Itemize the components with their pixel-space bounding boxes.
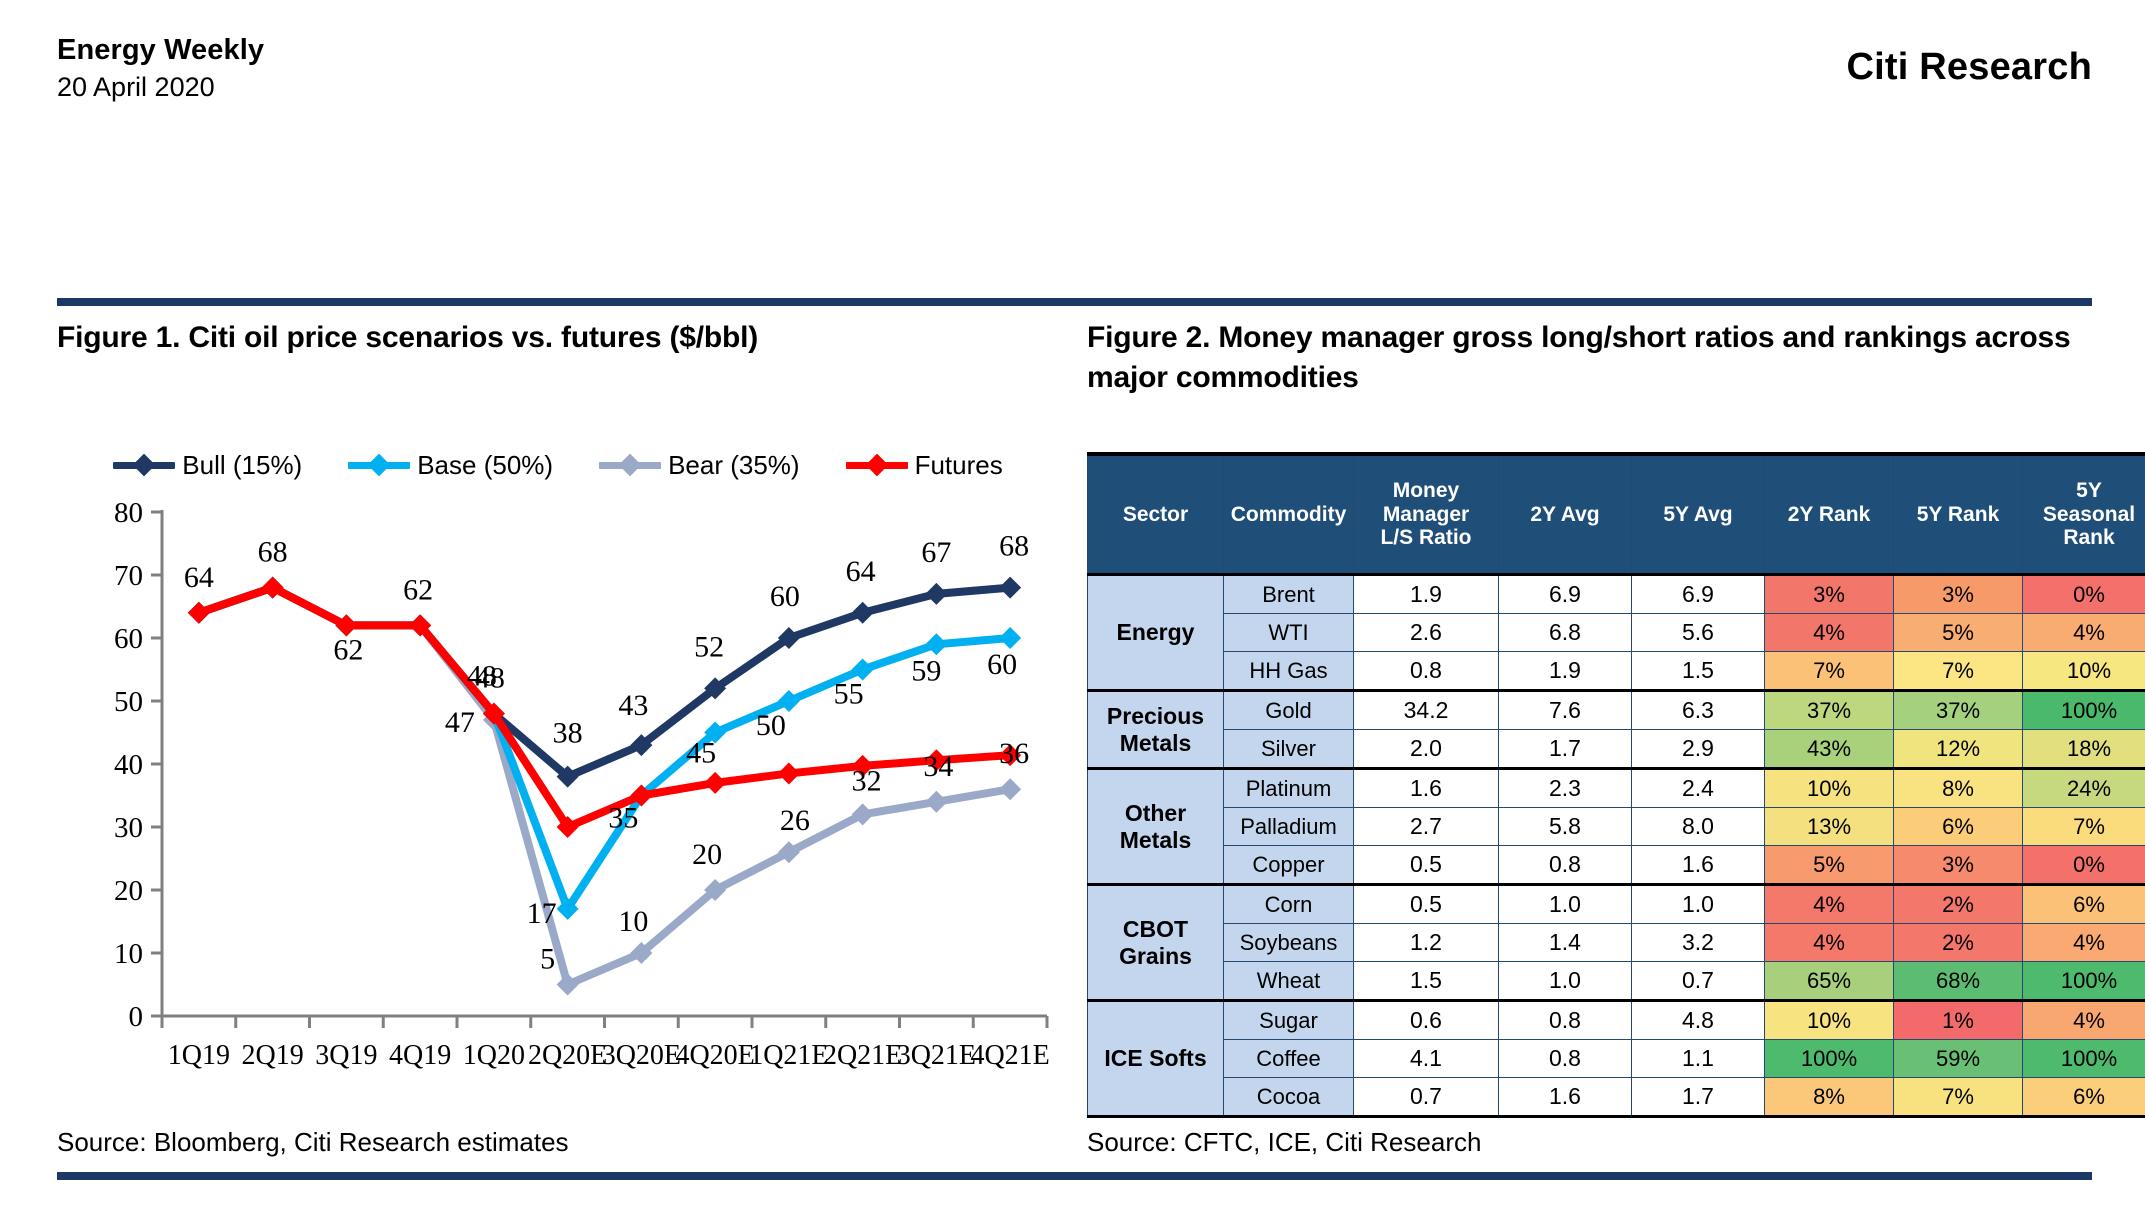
table-cell-5y-rank: 5% [1894, 614, 2023, 652]
table-row[interactable]: PreciousMetalsGold34.27.66.337%37%100% [1088, 691, 2145, 730]
table-cell-5y-avg: 6.3 [1632, 691, 1765, 730]
table-cell-5y-rank: 7% [1894, 652, 2023, 691]
x-axis-tick-label: 2Q21E [823, 1040, 902, 1071]
data-label: 36 [999, 737, 1029, 770]
table-cell-commodity: Gold [1224, 691, 1354, 730]
table-cell-2y-avg: 0.8 [1499, 1001, 1632, 1040]
table-cell-5y-seasonal-rank: 100% [2023, 1040, 2145, 1078]
table-cell-5y-avg: 1.0 [1632, 885, 1765, 924]
table-col-header-line: Manager [1356, 503, 1496, 527]
table-row[interactable]: Palladium2.75.88.013%6%7% [1088, 808, 2145, 846]
table-row[interactable]: HH Gas0.81.91.57%7%10% [1088, 652, 2145, 691]
table-cell-commodity: Soybeans [1224, 924, 1354, 962]
table-col-header-5y-avg[interactable]: 5Y Avg [1632, 454, 1765, 575]
table-cell-mm-ls-ratio: 0.5 [1354, 846, 1499, 885]
x-axis-tick-label: 3Q20E [602, 1040, 681, 1071]
x-axis-tick-label: 3Q21E [897, 1040, 976, 1071]
table-header-row: SectorCommodityMoneyManagerL/S Ratio2Y A… [1088, 454, 2145, 575]
table-row[interactable]: EnergyBrent1.96.96.93%3%0% [1088, 575, 2145, 614]
series-futures [188, 577, 1021, 838]
footer-divider-rule [57, 1172, 2092, 1180]
x-axis-tick-label: 4Q20E [675, 1040, 754, 1071]
table-cell-mm-ls-ratio: 0.8 [1354, 652, 1499, 691]
table-cell-2y-rank: 8% [1765, 1078, 1894, 1117]
table-row[interactable]: Copper0.50.81.65%3%0% [1088, 846, 2145, 885]
table-cell-2y-avg: 1.6 [1499, 1078, 1632, 1117]
data-label: 59 [911, 654, 941, 687]
table-cell-commodity: Copper [1224, 846, 1354, 885]
table-col-header-2y-rank[interactable]: 2Y Rank [1765, 454, 1894, 575]
table-cell-commodity: Palladium [1224, 808, 1354, 846]
sector-label-line: ICE Softs [1090, 1045, 1221, 1072]
figure1-title: Figure 1. Citi oil price scenarios vs. f… [57, 318, 1059, 358]
table-cell-5y-avg: 1.7 [1632, 1078, 1765, 1117]
legend-swatch-icon [348, 462, 410, 469]
table-cell-sector: PreciousMetals [1088, 691, 1224, 769]
legend-swatch-icon [846, 462, 908, 469]
x-axis-tick-label: 1Q19 [168, 1040, 230, 1071]
table-col-header-sector[interactable]: Sector [1088, 454, 1224, 575]
table-row[interactable]: Soybeans1.21.43.24%2%4% [1088, 924, 2145, 962]
table-cell-5y-seasonal-rank: 18% [2023, 730, 2145, 769]
table-cell-mm-ls-ratio: 0.7 [1354, 1078, 1499, 1117]
table-cell-sector: OtherMetals [1088, 769, 1224, 885]
table-col-header-line: Sector [1090, 503, 1221, 527]
y-axis-tick-label: 10 [114, 938, 143, 970]
data-label: 64 [184, 561, 214, 594]
table-cell-5y-seasonal-rank: 4% [2023, 1001, 2145, 1040]
brand-citi-research: Citi Research [1847, 46, 2092, 89]
data-label: 67 [921, 536, 951, 569]
table-cell-5y-seasonal-rank: 24% [2023, 769, 2145, 808]
table-cell-mm-ls-ratio: 2.6 [1354, 614, 1499, 652]
sector-label-line: Precious [1090, 703, 1221, 730]
data-label: 60 [987, 648, 1017, 681]
table-col-header-line: 2Y Avg [1501, 503, 1629, 527]
sector-label-line: Metals [1090, 827, 1221, 854]
table-col-header-commodity[interactable]: Commodity [1224, 454, 1354, 575]
table-row[interactable]: Coffee4.10.81.1100%59%100% [1088, 1040, 2145, 1078]
data-label: 32 [852, 764, 882, 797]
data-label: 62 [333, 633, 363, 666]
table-col-header-line: 5Y Avg [1634, 503, 1762, 527]
y-axis-tick-label: 60 [114, 623, 143, 655]
sector-label-line: Energy [1090, 619, 1221, 646]
table-col-header-line: L/S Ratio [1356, 526, 1496, 550]
table-cell-mm-ls-ratio: 1.6 [1354, 769, 1499, 808]
data-label: 38 [553, 717, 583, 750]
table-cell-5y-rank: 37% [1894, 691, 2023, 730]
table-cell-5y-avg: 1.6 [1632, 846, 1765, 885]
table-cell-commodity: HH Gas [1224, 652, 1354, 691]
table-cell-5y-rank: 68% [1894, 962, 2023, 1001]
table-cell-5y-rank: 6% [1894, 808, 2023, 846]
x-axis-tick-label: 1Q21E [749, 1040, 828, 1071]
table-cell-2y-avg: 1.0 [1499, 885, 1632, 924]
sector-label-line: CBOT [1090, 916, 1221, 943]
x-axis-tick-label: 2Q20E [528, 1040, 607, 1071]
data-label: 48 [475, 662, 505, 695]
table-cell-commodity: Corn [1224, 885, 1354, 924]
table-cell-5y-avg: 1.5 [1632, 652, 1765, 691]
table-row[interactable]: Silver2.01.72.943%12%18% [1088, 730, 2145, 769]
table-cell-2y-rank: 4% [1765, 924, 1894, 962]
table-cell-mm-ls-ratio: 2.0 [1354, 730, 1499, 769]
table-row[interactable]: WTI2.66.85.64%5%4% [1088, 614, 2145, 652]
figure1-panel: Figure 1. Citi oil price scenarios vs. f… [57, 318, 1059, 358]
table-cell-2y-rank: 4% [1765, 614, 1894, 652]
figure2-table-wrap: SectorCommodityMoneyManagerL/S Ratio2Y A… [1087, 452, 2091, 1118]
table-cell-5y-avg: 8.0 [1632, 808, 1765, 846]
table-cell-5y-rank: 7% [1894, 1078, 2023, 1117]
table-cell-mm-ls-ratio: 2.7 [1354, 808, 1499, 846]
data-label: 60 [770, 580, 800, 613]
table-cell-commodity: WTI [1224, 614, 1354, 652]
table-cell-5y-seasonal-rank: 10% [2023, 652, 2145, 691]
table-cell-5y-rank: 59% [1894, 1040, 2023, 1078]
y-axis-tick-label: 70 [114, 560, 143, 592]
data-label: 68 [258, 536, 288, 569]
table-cell-2y-avg: 7.6 [1499, 691, 1632, 730]
report-date: 20 April 2020 [57, 70, 264, 105]
table-col-header-line: Commodity [1226, 503, 1351, 527]
table-cell-2y-rank: 100% [1765, 1040, 1894, 1078]
table-col-header-5y-rank[interactable]: 5Y Rank [1894, 454, 2023, 575]
x-axis-tick-label: 4Q19 [389, 1040, 451, 1071]
data-label: 47 [445, 706, 475, 739]
table-cell-2y-avg: 0.8 [1499, 1040, 1632, 1078]
report-header-left: Energy Weekly 20 April 2020 [57, 32, 264, 105]
table-cell-commodity: Brent [1224, 575, 1354, 614]
table-cell-2y-avg: 1.7 [1499, 730, 1632, 769]
table-cell-mm-ls-ratio: 0.5 [1354, 885, 1499, 924]
table-cell-2y-avg: 1.0 [1499, 962, 1632, 1001]
figure2-title: Figure 2. Money manager gross long/short… [1087, 318, 2092, 398]
table-cell-mm-ls-ratio: 4.1 [1354, 1040, 1499, 1078]
table-cell-5y-rank: 12% [1894, 730, 2023, 769]
table-cell-5y-seasonal-rank: 0% [2023, 846, 2145, 885]
table-col-header-2y-avg[interactable]: 2Y Avg [1499, 454, 1632, 575]
table-cell-5y-seasonal-rank: 100% [2023, 962, 2145, 1001]
table-cell-2y-rank: 5% [1765, 846, 1894, 885]
table-col-header-line: 5Y Rank [1896, 503, 2020, 527]
data-label: 5 [540, 943, 555, 976]
report-title: Energy Weekly [57, 32, 264, 68]
table-cell-commodity: Cocoa [1224, 1078, 1354, 1117]
table-cell-5y-avg: 4.8 [1632, 1001, 1765, 1040]
table-cell-5y-avg: 0.7 [1632, 962, 1765, 1001]
table-cell-sector: ICE Softs [1088, 1001, 1224, 1117]
table-cell-commodity: Platinum [1224, 769, 1354, 808]
legend-swatch-icon [113, 462, 175, 469]
table-col-header-line: Seasonal [2025, 503, 2145, 527]
table-cell-mm-ls-ratio: 0.6 [1354, 1001, 1499, 1040]
table-cell-5y-avg: 2.4 [1632, 769, 1765, 808]
x-axis-tick-label: 3Q19 [315, 1040, 377, 1071]
table-cell-5y-seasonal-rank: 6% [2023, 1078, 2145, 1117]
table-cell-mm-ls-ratio: 1.9 [1354, 575, 1499, 614]
data-label: 55 [834, 678, 864, 711]
y-axis-tick-label: 40 [114, 749, 143, 781]
table-header: SectorCommodityMoneyManagerL/S Ratio2Y A… [1088, 454, 2145, 575]
table-cell-5y-avg: 1.1 [1632, 1040, 1765, 1078]
table-cell-5y-rank: 3% [1894, 846, 2023, 885]
table-cell-5y-avg: 2.9 [1632, 730, 1765, 769]
table-cell-mm-ls-ratio: 34.2 [1354, 691, 1499, 730]
legend-label: Base (50%) [417, 452, 553, 478]
table-cell-2y-rank: 4% [1765, 885, 1894, 924]
table-cell-5y-seasonal-rank: 4% [2023, 614, 2145, 652]
table-cell-commodity: Coffee [1224, 1040, 1354, 1078]
legend-item-futures[interactable]: Futures [846, 452, 1003, 478]
data-label: 26 [780, 804, 810, 837]
x-axis-tick-label: 2Q19 [242, 1040, 304, 1071]
table-col-header-line: 2Y Rank [1767, 503, 1891, 527]
table-cell-2y-rank: 37% [1765, 691, 1894, 730]
table-col-header-line: 5Y [2025, 479, 2145, 503]
table-cell-2y-rank: 13% [1765, 808, 1894, 846]
table-cell-2y-avg: 1.9 [1499, 652, 1632, 691]
y-axis-tick-label: 30 [114, 812, 143, 844]
report-page: Energy Weekly 20 April 2020 Citi Researc… [0, 0, 2145, 1208]
figure1-source: Source: Bloomberg, Citi Research estimat… [57, 1129, 569, 1155]
legend-label: Bear (35%) [668, 452, 800, 478]
sector-label-line: Other [1090, 800, 1221, 827]
table-cell-mm-ls-ratio: 1.5 [1354, 962, 1499, 1001]
series-bear-35 [188, 577, 1021, 996]
table-cell-2y-avg: 2.3 [1499, 769, 1632, 808]
table-cell-2y-avg: 5.8 [1499, 808, 1632, 846]
table-cell-2y-rank: 10% [1765, 769, 1894, 808]
data-label: 50 [756, 709, 786, 742]
table-cell-5y-rank: 1% [1894, 1001, 2023, 1040]
table-body: EnergyBrent1.96.96.93%3%0%WTI2.66.85.64%… [1088, 575, 2145, 1117]
table-cell-2y-rank: 3% [1765, 575, 1894, 614]
table-cell-5y-avg: 3.2 [1632, 924, 1765, 962]
table-col-header-line: Money [1356, 479, 1496, 503]
table-cell-commodity: Sugar [1224, 1001, 1354, 1040]
table-row[interactable]: Wheat1.51.00.765%68%100% [1088, 962, 2145, 1001]
table-cell-2y-avg: 1.4 [1499, 924, 1632, 962]
x-axis-tick-label: 1Q20 [463, 1040, 525, 1071]
table-cell-2y-avg: 6.8 [1499, 614, 1632, 652]
table-cell-2y-rank: 7% [1765, 652, 1894, 691]
data-label: 62 [403, 573, 433, 606]
legend-item-bull-15[interactable]: Bull (15%) [113, 452, 302, 478]
table-cell-5y-rank: 2% [1894, 924, 2023, 962]
table-row[interactable]: Cocoa0.71.61.78%7%6% [1088, 1078, 2145, 1117]
data-label: 43 [618, 689, 648, 722]
table-cell-5y-rank: 2% [1894, 885, 2023, 924]
table-cell-mm-ls-ratio: 1.2 [1354, 924, 1499, 962]
legend-item-base-50[interactable]: Base (50%) [348, 452, 553, 478]
table-cell-5y-seasonal-rank: 7% [2023, 808, 2145, 846]
table-row[interactable]: OtherMetalsPlatinum1.62.32.410%8%24% [1088, 769, 2145, 808]
chart-legend: Bull (15%)Base (50%)Bear (35%)Futures [57, 440, 1059, 490]
table-col-header-line: Rank [2025, 526, 2145, 550]
table-cell-5y-seasonal-rank: 100% [2023, 691, 2145, 730]
table-cell-5y-seasonal-rank: 4% [2023, 924, 2145, 962]
data-label: 45 [686, 737, 716, 770]
data-label: 17 [527, 897, 557, 930]
table-cell-5y-rank: 3% [1894, 575, 2023, 614]
figure2-source: Source: CFTC, ICE, Citi Research [1087, 1129, 1481, 1155]
y-axis-tick-label: 20 [114, 875, 143, 907]
table-cell-2y-avg: 0.8 [1499, 846, 1632, 885]
table-cell-5y-avg: 5.6 [1632, 614, 1765, 652]
legend-label: Futures [915, 452, 1003, 478]
table-cell-5y-avg: 6.9 [1632, 575, 1765, 614]
table-cell-5y-seasonal-rank: 6% [2023, 885, 2145, 924]
legend-swatch-icon [599, 462, 661, 469]
table-col-header-money-manager-l-s-ratio[interactable]: MoneyManagerL/S Ratio [1354, 454, 1499, 575]
x-axis-tick-label: 4Q21E [970, 1040, 1049, 1071]
series-base-50 [188, 577, 1021, 920]
table-row[interactable]: CBOTGrainsCorn0.51.01.04%2%6% [1088, 885, 2145, 924]
chart-plot-area: 010203040506070801Q192Q193Q194Q191Q202Q2… [57, 494, 1059, 1108]
table-row[interactable]: ICE SoftsSugar0.60.84.810%1%4% [1088, 1001, 2145, 1040]
data-label: 10 [618, 905, 648, 938]
data-label: 52 [694, 630, 724, 663]
sector-label-line: Grains [1090, 943, 1221, 970]
table-cell-sector: CBOTGrains [1088, 885, 1224, 1001]
data-label: 35 [608, 802, 638, 835]
figure2-panel: Figure 2. Money manager gross long/short… [1087, 318, 2092, 398]
table-cell-2y-rank: 10% [1765, 1001, 1894, 1040]
figure1-chart: Bull (15%)Base (50%)Bear (35%)Futures 01… [57, 418, 1059, 1108]
table-cell-commodity: Wheat [1224, 962, 1354, 1001]
y-axis-tick-label: 80 [114, 497, 143, 529]
table-cell-5y-seasonal-rank: 0% [2023, 575, 2145, 614]
data-label: 20 [692, 838, 722, 871]
legend-label: Bull (15%) [182, 452, 302, 478]
table-cell-commodity: Silver [1224, 730, 1354, 769]
legend-item-bear-35[interactable]: Bear (35%) [599, 452, 800, 478]
commodity-ratio-table: SectorCommodityMoneyManagerL/S Ratio2Y A… [1087, 452, 2145, 1118]
table-cell-sector: Energy [1088, 575, 1224, 691]
table-cell-5y-rank: 8% [1894, 769, 2023, 808]
y-axis-tick-label: 0 [129, 1001, 144, 1033]
table-cell-2y-rank: 65% [1765, 962, 1894, 1001]
data-label: 34 [923, 750, 953, 783]
table-cell-2y-avg: 6.9 [1499, 575, 1632, 614]
table-cell-2y-rank: 43% [1765, 730, 1894, 769]
table-col-header-5y-seasonal-rank[interactable]: 5YSeasonalRank [2023, 454, 2145, 575]
sector-label-line: Metals [1090, 730, 1221, 757]
data-label: 64 [846, 555, 876, 588]
y-axis-tick-label: 50 [114, 686, 143, 718]
data-label: 68 [999, 530, 1029, 563]
header-divider-rule [57, 298, 2092, 306]
